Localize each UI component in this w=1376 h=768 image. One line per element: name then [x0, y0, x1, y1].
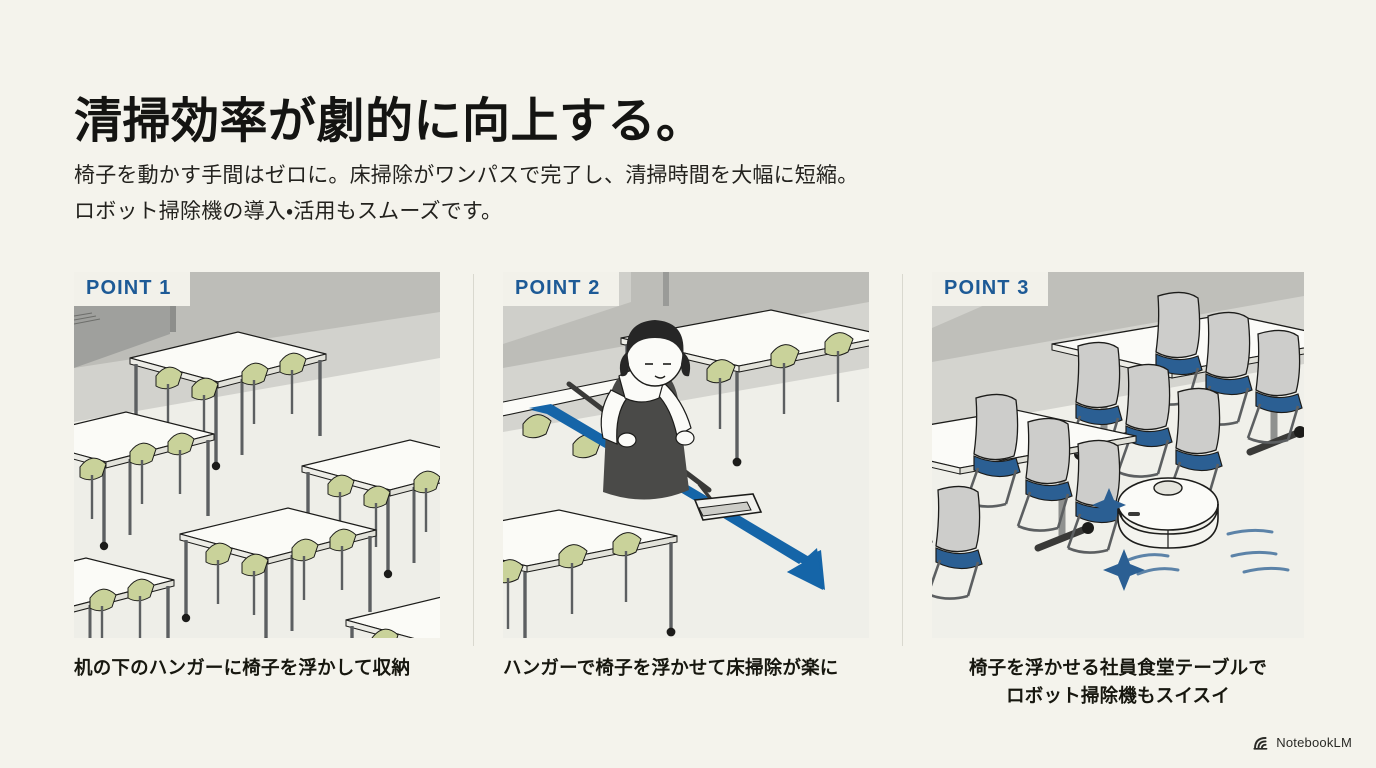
point-caption-3: 椅子を浮かせる社員食堂テーブルで ロボット掃除機もスイスイ — [932, 654, 1304, 710]
point-caption-2-line-1: ハンガーで椅子を浮かせて床掃除が楽に — [503, 654, 869, 682]
point-caption-2: ハンガーで椅子を浮かせて床掃除が楽に — [503, 654, 869, 682]
point-caption-3-line-1: 椅子を浮かせる社員食堂テーブルで — [932, 654, 1304, 682]
point-caption-1: 机の下のハンガーに椅子を浮かして収納 — [74, 654, 440, 682]
subtitle-line-2: ロボット掃除機の導入・活用もスムーズです。 — [74, 194, 858, 230]
point-panel-1: POINT 1 机の下のハンガーに椅子を浮かして収納 — [74, 272, 440, 638]
point-badge-2: POINT 2 — [503, 272, 619, 306]
point-panel-2: POINT 2 ハンガーで椅子を浮かせて床掃除が楽に — [503, 272, 869, 638]
point-panel-3: POINT 3 椅子を浮かせる社員食堂テーブルで ロボット掃除機もスイスイ — [932, 272, 1304, 638]
page-title: 清掃効率が劇的に向上する。 — [74, 95, 705, 149]
notebooklm-label: NotebookLM — [1276, 735, 1352, 750]
notebooklm-watermark: NotebookLM — [1253, 735, 1352, 750]
page-subtitle: 椅子を動かす手間はゼロに。床掃除がワンパスで完了し、清掃時間を大幅に短縮。 ロボ… — [74, 158, 858, 230]
cafeteria-tables-stools-illustration — [74, 272, 440, 638]
point-badge-3: POINT 3 — [932, 272, 1048, 306]
point-caption-3-line-2: ロボット掃除機もスイスイ — [932, 682, 1304, 710]
illustration-point-2 — [503, 272, 869, 638]
point-badge-1: POINT 1 — [74, 272, 190, 306]
subtitle-line-1: 椅子を動かす手間はゼロに。床掃除がワンパスで完了し、清掃時間を大幅に短縮。 — [74, 158, 858, 194]
robot-vacuum — [1118, 478, 1218, 548]
illustration-point-1 — [74, 272, 440, 638]
points-panel-row: POINT 1 机の下のハンガーに椅子を浮かして収納 — [0, 272, 1376, 712]
person-mopping-illustration — [503, 272, 869, 638]
robot-vacuum-illustration — [932, 272, 1304, 638]
slide-root: 清掃効率が劇的に向上する。 椅子を動かす手間はゼロに。床掃除がワンパスで完了し、… — [0, 0, 1376, 768]
illustration-point-3 — [932, 272, 1304, 638]
notebooklm-logo-icon — [1253, 736, 1270, 750]
point-caption-1-line-1: 机の下のハンガーに椅子を浮かして収納 — [74, 654, 440, 682]
